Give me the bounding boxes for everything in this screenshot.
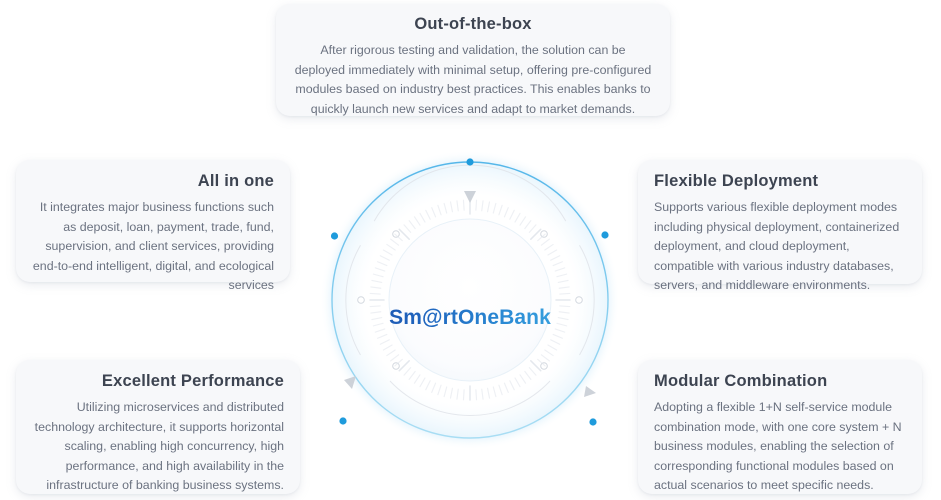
card-body: Adopting a flexible 1+N self-service mod… [654, 398, 906, 496]
inner-disc [389, 219, 551, 381]
card-title: Excellent Performance [32, 372, 284, 391]
ring-node [601, 231, 608, 238]
card-flexible-deployment[interactable]: Flexible Deployment Supports various fle… [638, 160, 922, 284]
card-body: Supports various flexible deployment mod… [654, 198, 906, 296]
card-all-in-one[interactable]: All in one It integrates major business … [16, 160, 290, 282]
infographic-stage: Sm@rtOneBank Out-of-the-box After rigoro… [0, 0, 941, 500]
card-title: All in one [32, 172, 274, 191]
ring-node [339, 417, 346, 424]
ring-node [331, 232, 338, 239]
card-body: Utilizing microservices and distributed … [32, 398, 284, 496]
card-title: Modular Combination [654, 372, 906, 391]
ring-node [466, 158, 473, 165]
card-title: Out-of-the-box [294, 15, 652, 34]
card-modular-combination[interactable]: Modular Combination Adopting a flexible … [638, 360, 922, 494]
card-body: It integrates major business functions s… [32, 198, 274, 296]
card-title: Flexible Deployment [654, 172, 906, 191]
ring-node [589, 418, 596, 425]
card-out-of-the-box[interactable]: Out-of-the-box After rigorous testing an… [276, 4, 670, 116]
central-ring-graphic [330, 148, 610, 448]
card-excellent-performance[interactable]: Excellent Performance Utilizing microser… [16, 360, 300, 494]
card-body: After rigorous testing and validation, t… [294, 41, 652, 119]
